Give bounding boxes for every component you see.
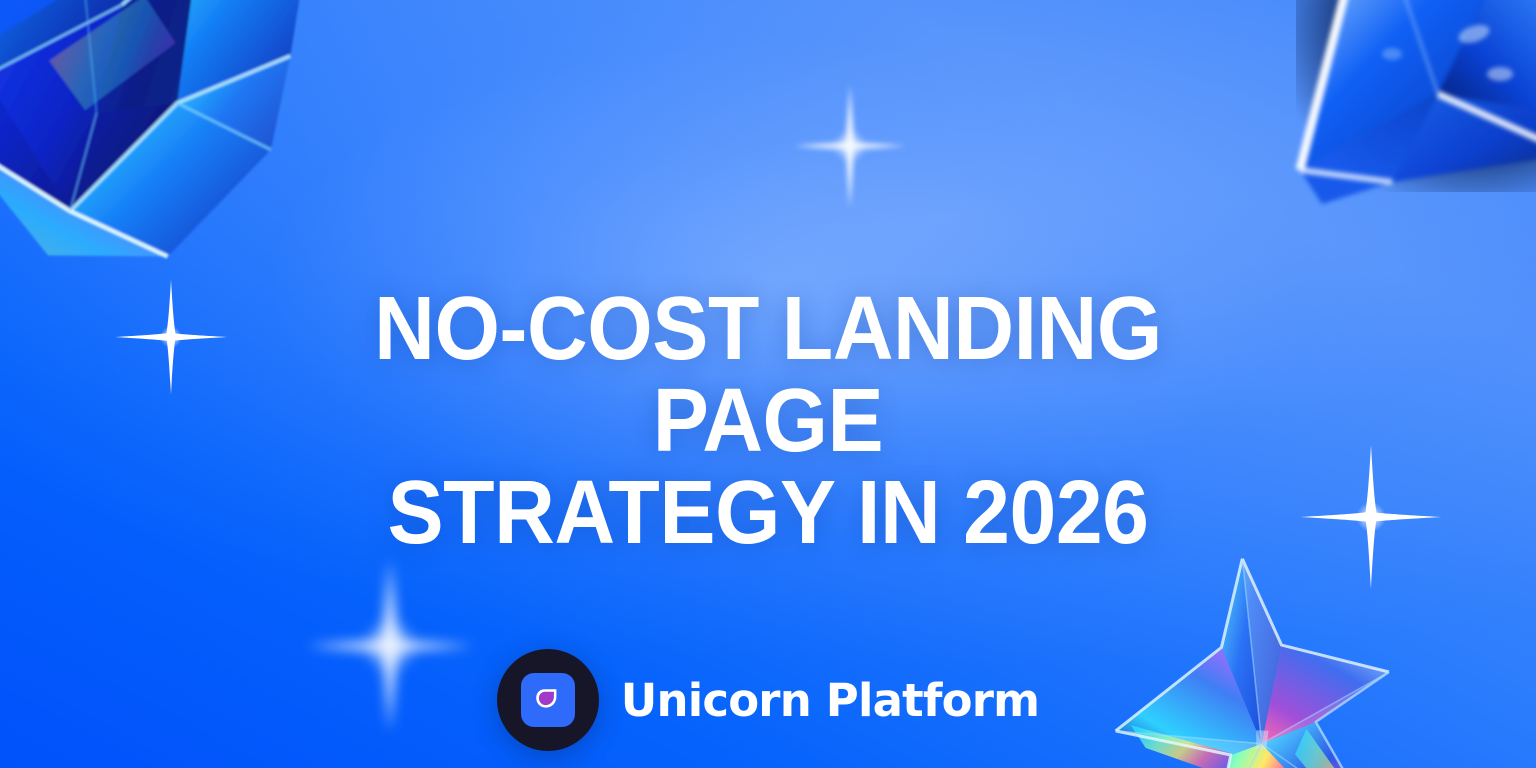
- brand-name: Unicorn Platform: [621, 678, 1040, 723]
- page-title: NO-COST LANDING PAGE STRATEGY IN 2026: [301, 284, 1236, 559]
- brand-logo-mark: [497, 649, 599, 751]
- brand-lockup: Unicorn Platform: [497, 649, 1040, 751]
- unicorn-platform-leaf-droplet-icon: [532, 684, 564, 716]
- brand-logo-tile: [521, 673, 575, 727]
- hero-banner: NO-COST LANDING PAGE STRATEGY IN 2026 Un…: [0, 0, 1536, 768]
- hero-content: NO-COST LANDING PAGE STRATEGY IN 2026 Un…: [0, 0, 1536, 768]
